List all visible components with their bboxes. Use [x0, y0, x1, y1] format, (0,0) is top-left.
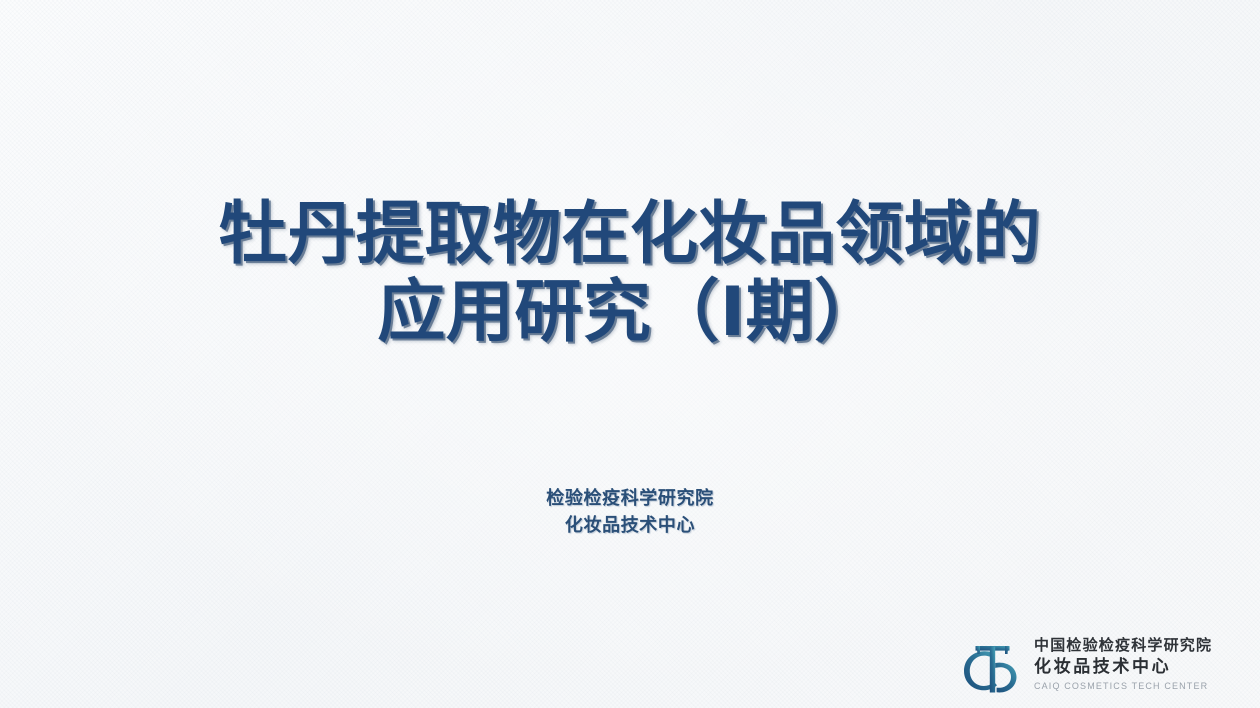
subtitle: 检验检疫科学研究院 化妆品技术中心 — [0, 485, 1260, 539]
subtitle-line-2: 化妆品技术中心 — [0, 512, 1260, 539]
subtitle-line-1: 检验检疫科学研究院 — [0, 485, 1260, 512]
organization-logo: 中国检验检疫科学研究院 化妆品技术中心 CAIQ COSMETICS TECH … — [958, 630, 1212, 696]
title-slide: 牡丹提取物在化妆品领域的 应用研究（Ⅰ期） 检验检疫科学研究院 化妆品技术中心 — [0, 0, 1260, 708]
caiq-cosmetics-monogram-icon — [958, 630, 1024, 696]
title-line-2: 应用研究（Ⅰ期） — [0, 274, 1260, 352]
page-title: 牡丹提取物在化妆品领域的 应用研究（Ⅰ期） — [0, 196, 1260, 352]
logo-center-name: 化妆品技术中心 — [1034, 656, 1212, 679]
title-line-1: 牡丹提取物在化妆品领域的 — [0, 196, 1260, 274]
logo-institute-name: 中国检验检疫科学研究院 — [1034, 635, 1212, 656]
organization-logo-text: 中国检验检疫科学研究院 化妆品技术中心 CAIQ COSMETICS TECH … — [1034, 633, 1212, 693]
logo-english-name: CAIQ COSMETICS TECH CENTER — [1034, 679, 1212, 693]
